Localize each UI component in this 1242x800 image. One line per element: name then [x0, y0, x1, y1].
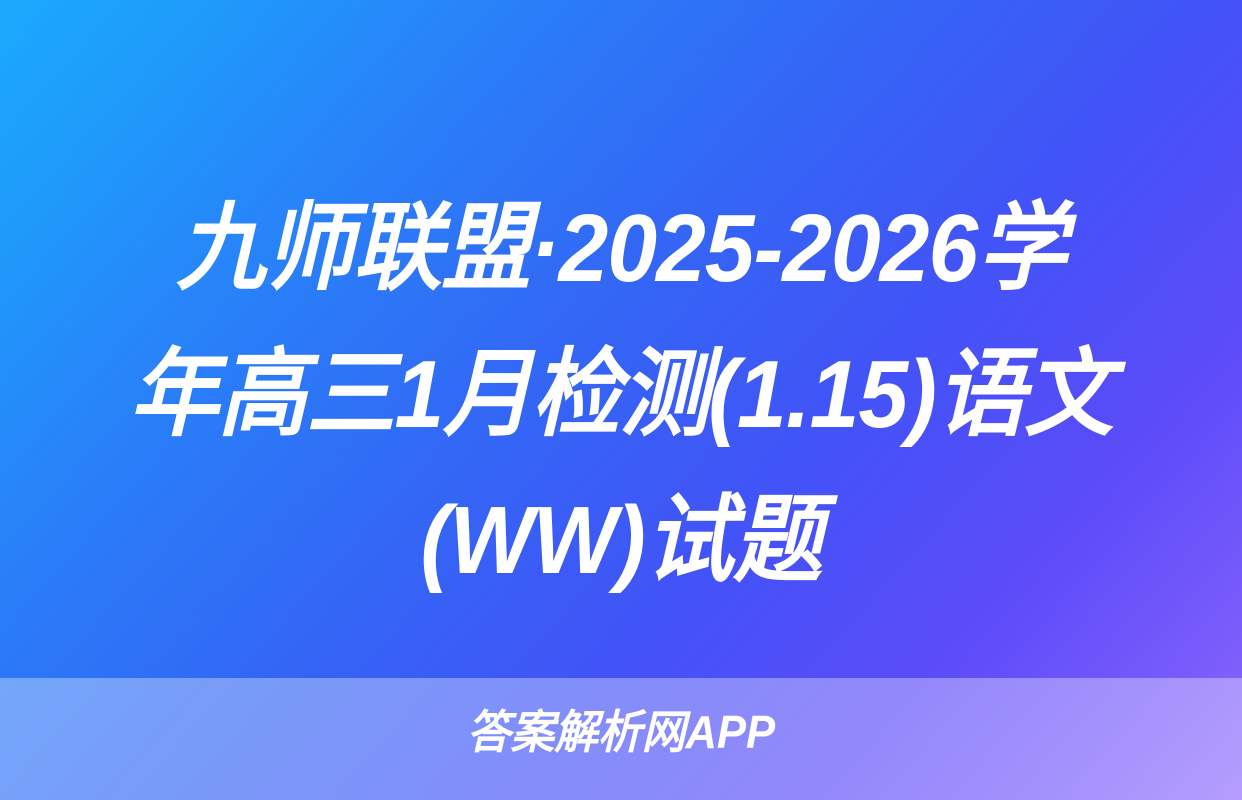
exam-title-card: 九师联盟·2025-2026学 年高三1月检测(1.15)语文 (WW)试题 答… — [0, 0, 1242, 800]
title-line-3: (WW)试题 — [81, 468, 1162, 614]
app-watermark: 答案解析网APP — [31, 702, 1211, 762]
title-line-1: 九师联盟·2025-2026学 — [81, 176, 1162, 322]
page-title: 九师联盟·2025-2026学 年高三1月检测(1.15)语文 (WW)试题 — [0, 176, 1242, 614]
title-line-2: 年高三1月检测(1.15)语文 — [81, 322, 1162, 468]
